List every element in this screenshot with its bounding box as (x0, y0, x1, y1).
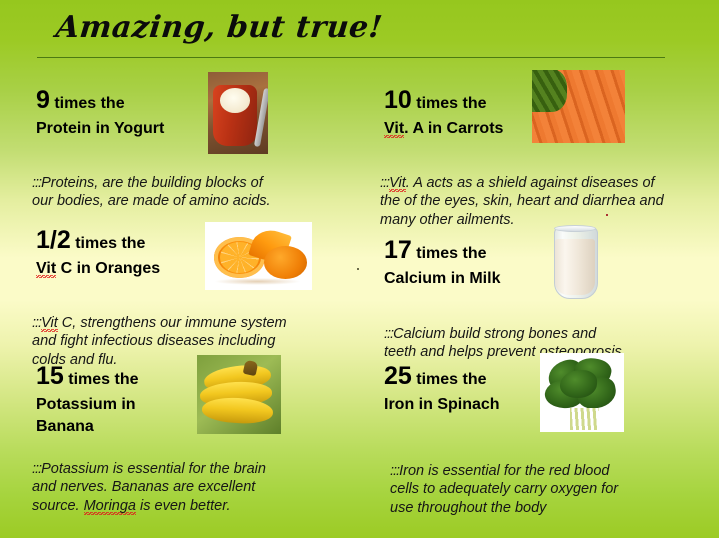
fact-number-spinach: 25 (384, 362, 412, 390)
fact-description-text-spinach: Iron is essential for the red blood cell… (390, 463, 618, 516)
banana-photo (197, 355, 281, 434)
bullet-dots-spinach: ::: (390, 463, 399, 479)
fact-number-yogurt: 9 (36, 86, 50, 114)
fact-headline-rest-banana: times the (64, 371, 139, 388)
bullet-dots-banana: ::: (32, 461, 41, 477)
fact-subject-banana: Potassium in (36, 395, 139, 416)
bullet-dots-oranges: ::: (32, 315, 41, 331)
infographic-poster: Amazing, but true! 9 times the Protein i… (0, 0, 719, 538)
fact-description-text-banana-part2: is even better. (136, 498, 231, 514)
spellcheck-error-vit-oranges-desc: Vit (41, 315, 58, 334)
spellcheck-error-vit-carrots-desc: Vit (389, 175, 406, 194)
bullet-dots-carrots: ::: (380, 175, 389, 191)
fact-subject-milk: Calcium in Milk (384, 269, 500, 290)
fact-description-carrots: :::Vit. A acts as a shield against disea… (380, 155, 719, 229)
fact-headline-milk: 17 times the Calcium in Milk (384, 234, 500, 289)
spellcheck-error-vit-oranges: Vit (36, 260, 56, 280)
milk-photo (544, 222, 606, 300)
fact-headline-carrots: 10 times the Vit. A in Carrots (384, 84, 503, 139)
fact-subject-rest-carrots: . A in Carrots (404, 120, 503, 137)
fact-description-text-yogurt: Proteins, are the building blocks of our… (32, 175, 271, 210)
artifact-speck-1 (357, 268, 359, 270)
fact-number-milk: 17 (384, 236, 412, 264)
fact-number-oranges: 1/2 (36, 226, 71, 254)
artifact-speck-2 (606, 214, 608, 216)
fact-description-yogurt: :::Proteins, are the building blocks of … (32, 155, 352, 211)
carrots-photo (532, 70, 625, 143)
fact-description-banana: :::Potassium is essential for the brain … (32, 441, 362, 515)
fact-headline-banana: 15 times the Potassium in Banana (36, 360, 139, 438)
fact-description-spinach: :::Iron is essential for the red blood c… (390, 443, 719, 517)
bullet-dots-yogurt: ::: (32, 175, 41, 191)
fact-headline-rest-spinach: times the (412, 371, 487, 388)
fact-subject-rest-oranges: C in Oranges (56, 260, 160, 277)
fact-headline-rest-carrots: times the (412, 95, 487, 112)
title-block: Amazing, but true! (0, 10, 719, 62)
fact-description-text-carrots: . A acts as a shield against diseases of… (380, 175, 664, 228)
fact-subject-oranges: Vit C in Oranges (36, 259, 160, 280)
spellcheck-error-vit-carrots: Vit (384, 120, 404, 140)
fact-headline-rest-oranges: times the (71, 235, 146, 252)
spinach-photo (540, 353, 624, 432)
fact-headline-yogurt: 9 times the Protein in Yogurt (36, 84, 164, 139)
fact-subject-spinach: Iron in Spinach (384, 395, 500, 416)
oranges-photo (205, 222, 312, 290)
fact-number-banana: 15 (36, 362, 64, 390)
fact-subject-carrots: Vit. A in Carrots (384, 119, 503, 140)
spellcheck-error-moringa: Moringa (84, 498, 136, 517)
right-column: 10 times the Vit. A in Carrots :::Vit. A… (362, 62, 714, 532)
fact-headline-spinach: 25 times the Iron in Spinach (384, 360, 500, 415)
fact-headline-oranges: 1/2 times the Vit C in Oranges (36, 224, 160, 279)
fact-subject-yogurt: Protein in Yogurt (36, 119, 164, 140)
fact-number-carrots: 10 (384, 86, 412, 114)
left-column: 9 times the Protein in Yogurt :::Protein… (8, 62, 360, 532)
page-title: Amazing, but true! (54, 10, 384, 45)
title-divider (37, 57, 665, 58)
fact-headline-rest-yogurt: times the (50, 95, 125, 112)
bullet-dots-milk: ::: (384, 326, 393, 342)
fact-headline-rest-milk: times the (412, 245, 487, 262)
yogurt-photo (208, 72, 268, 154)
fact-subject-line3-banana: Banana (36, 417, 139, 438)
